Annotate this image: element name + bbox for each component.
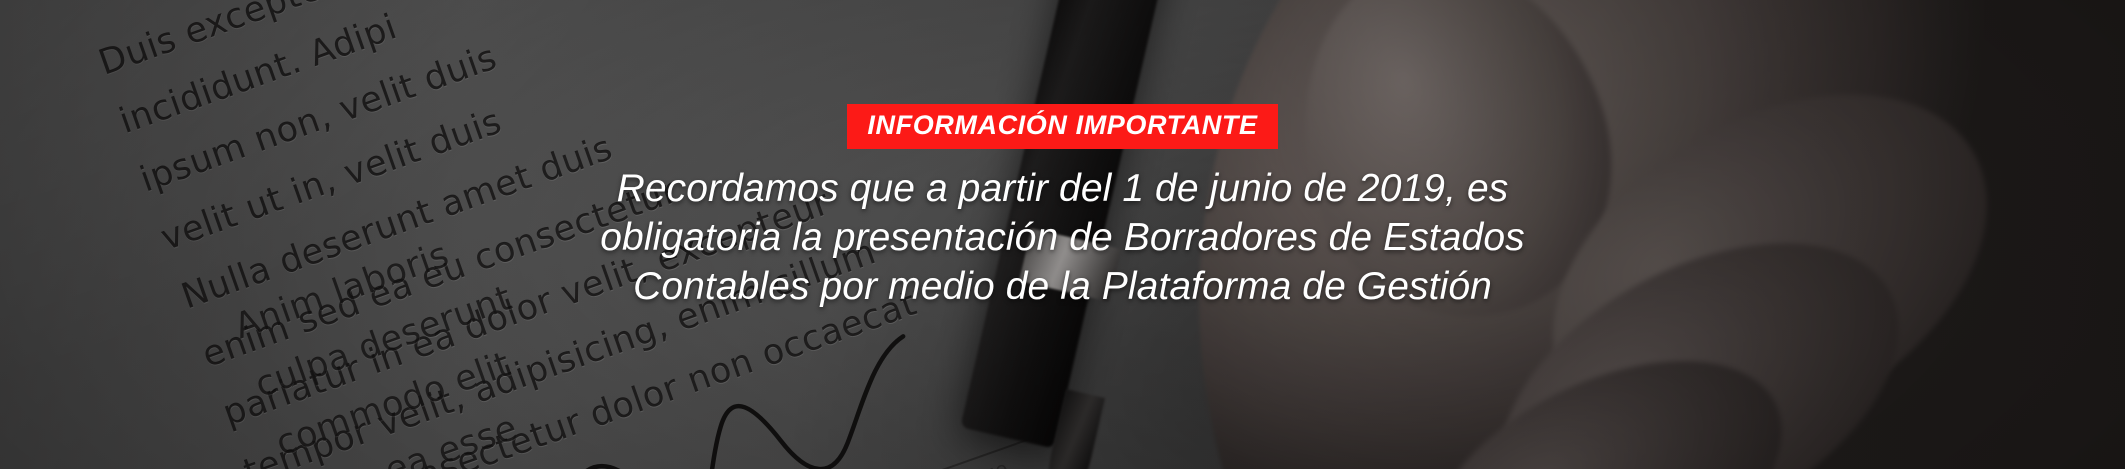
promo-banner: Duis excepteur et, adipi incididunt. Adi… xyxy=(0,0,2125,469)
status-badge: INFORMACIÓN IMPORTANTE xyxy=(847,104,1277,149)
headline-line: Contables por medio de la Plataforma de … xyxy=(600,262,1524,311)
banner-content: INFORMACIÓN IMPORTANTE Recordamos que a … xyxy=(0,0,2125,469)
page-title: Recordamos que a partir del 1 de junio d… xyxy=(600,164,1524,311)
headline-line: obligatoria la presentación de Borradore… xyxy=(600,213,1524,262)
headline-line: Recordamos que a partir del 1 de junio d… xyxy=(600,164,1524,213)
